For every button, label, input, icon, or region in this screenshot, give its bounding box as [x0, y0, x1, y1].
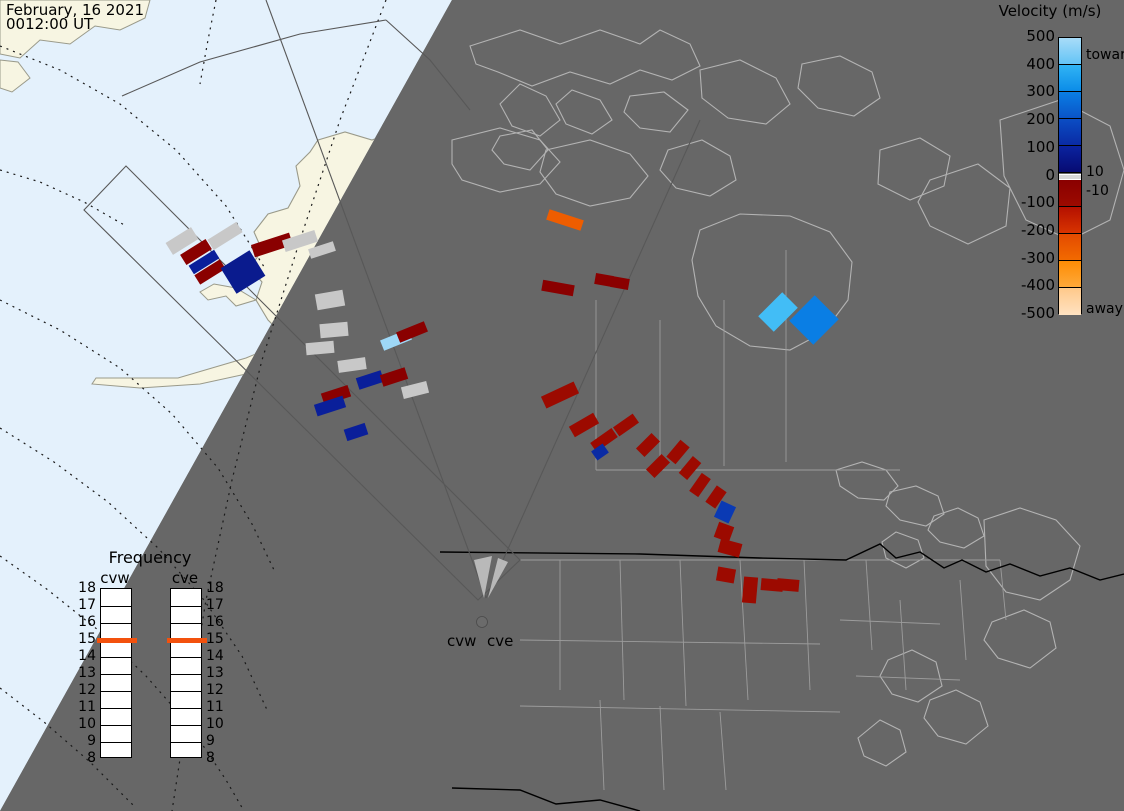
frequency-tick-line	[101, 606, 131, 607]
frequency-tick-line	[171, 725, 201, 726]
frequency-marker	[167, 638, 207, 643]
colorbar-segment	[1059, 65, 1081, 92]
colorbar-segment	[1059, 92, 1081, 119]
colorbar-tick--400: -400	[1000, 278, 1055, 293]
frequency-axis-label: 12	[72, 683, 96, 697]
colorbar-segment	[1059, 234, 1081, 261]
frequency-tick-line	[101, 725, 131, 726]
frequency-legend: Frequency cvw 18171615141312111098 cve 1…	[80, 545, 250, 795]
colorbar-segment	[1059, 146, 1081, 173]
frequency-axis-label: 18	[206, 581, 230, 595]
colorbar-upper-threshold-label: 10	[1086, 165, 1104, 179]
frequency-tick-line	[171, 657, 201, 658]
frequency-axis-label: 8	[72, 751, 96, 765]
frequency-axis-label: 14	[72, 649, 96, 663]
colorbar-toward-label: toward	[1086, 48, 1124, 62]
frequency-bar	[170, 588, 202, 758]
frequency-axis-label: 17	[72, 598, 96, 612]
frequency-tick-line	[171, 623, 201, 624]
frequency-tick-line	[171, 691, 201, 692]
radar-cell	[306, 341, 335, 355]
colorbar-segment	[1059, 207, 1081, 234]
velocity-colorbar: Velocity (m/s) 5004003002001000-100-200-…	[965, 0, 1124, 330]
colorbar-away-label: away	[1086, 302, 1123, 316]
frequency-tick-line	[101, 623, 131, 624]
radar-cell	[742, 576, 758, 603]
frequency-axis-label: 17	[206, 598, 230, 612]
colorbar-tick--300: -300	[1000, 251, 1055, 266]
frequency-bar	[100, 588, 132, 758]
radar-map-screenshot: February, 16 2021 0012:00 UT cvw cve Vel…	[0, 0, 1124, 811]
frequency-axis-label: 18	[72, 581, 96, 595]
colorbar-tick-100: 100	[1000, 140, 1055, 155]
colorbar-tick--200: -200	[1000, 223, 1055, 238]
site-label-cvw: cvw	[447, 634, 476, 649]
frequency-marker	[97, 638, 137, 643]
frequency-axis-label: 10	[72, 717, 96, 731]
frequency-axis-label: 13	[72, 666, 96, 680]
radar-cell	[319, 322, 348, 338]
site-label-cve: cve	[487, 634, 513, 649]
frequency-axis-label: 16	[72, 615, 96, 629]
radar-cell	[777, 578, 800, 592]
frequency-tick-line	[171, 742, 201, 743]
colorbar-tick-500: 500	[1000, 29, 1055, 44]
frequency-tick-line	[171, 674, 201, 675]
colorbar-tick-300: 300	[1000, 84, 1055, 99]
colorbar-gradient-box	[1058, 37, 1082, 314]
frequency-axis-label: 14	[206, 649, 230, 663]
frequency-column-cvw: cvw 18171615141312111098	[80, 545, 150, 795]
colorbar-title: Velocity (m/s)	[975, 2, 1124, 20]
frequency-axis-label: 13	[206, 666, 230, 680]
frequency-tick-line	[101, 674, 131, 675]
frequency-tick-line	[101, 742, 131, 743]
frequency-column-cve: cve 18171615141312111098	[150, 545, 220, 795]
colorbar-tick--100: -100	[1000, 195, 1055, 210]
frequency-tick-line	[171, 606, 201, 607]
frequency-axis-label: 15	[206, 632, 230, 646]
frequency-axis-label: 12	[206, 683, 230, 697]
frequency-axis-label: 9	[206, 734, 230, 748]
frequency-tick-line	[101, 691, 131, 692]
frequency-axis-label: 9	[72, 734, 96, 748]
colorbar-lower-threshold-label: -10	[1086, 184, 1109, 198]
colorbar-tick-400: 400	[1000, 57, 1055, 72]
frequency-axis-label: 11	[206, 700, 230, 714]
colorbar-segment	[1059, 119, 1081, 146]
frequency-axis-label: 15	[72, 632, 96, 646]
colorbar-segment	[1059, 38, 1081, 65]
colorbar-tick-200: 200	[1000, 112, 1055, 127]
page-title-time: 0012:00 UT	[6, 17, 93, 32]
frequency-axis-label: 8	[206, 751, 230, 765]
colorbar-segment	[1059, 180, 1081, 207]
frequency-tick-line	[171, 708, 201, 709]
frequency-tick-line	[101, 708, 131, 709]
frequency-axis-label: 16	[206, 615, 230, 629]
colorbar-tick-0: 0	[1000, 168, 1055, 183]
colorbar-tick--500: -500	[1000, 306, 1055, 321]
colorbar-segment	[1059, 288, 1081, 315]
frequency-axis-label: 10	[206, 717, 230, 731]
radar-origin-marker	[477, 617, 488, 628]
frequency-axis-label: 11	[72, 700, 96, 714]
frequency-tick-line	[101, 657, 131, 658]
colorbar-segment	[1059, 261, 1081, 288]
